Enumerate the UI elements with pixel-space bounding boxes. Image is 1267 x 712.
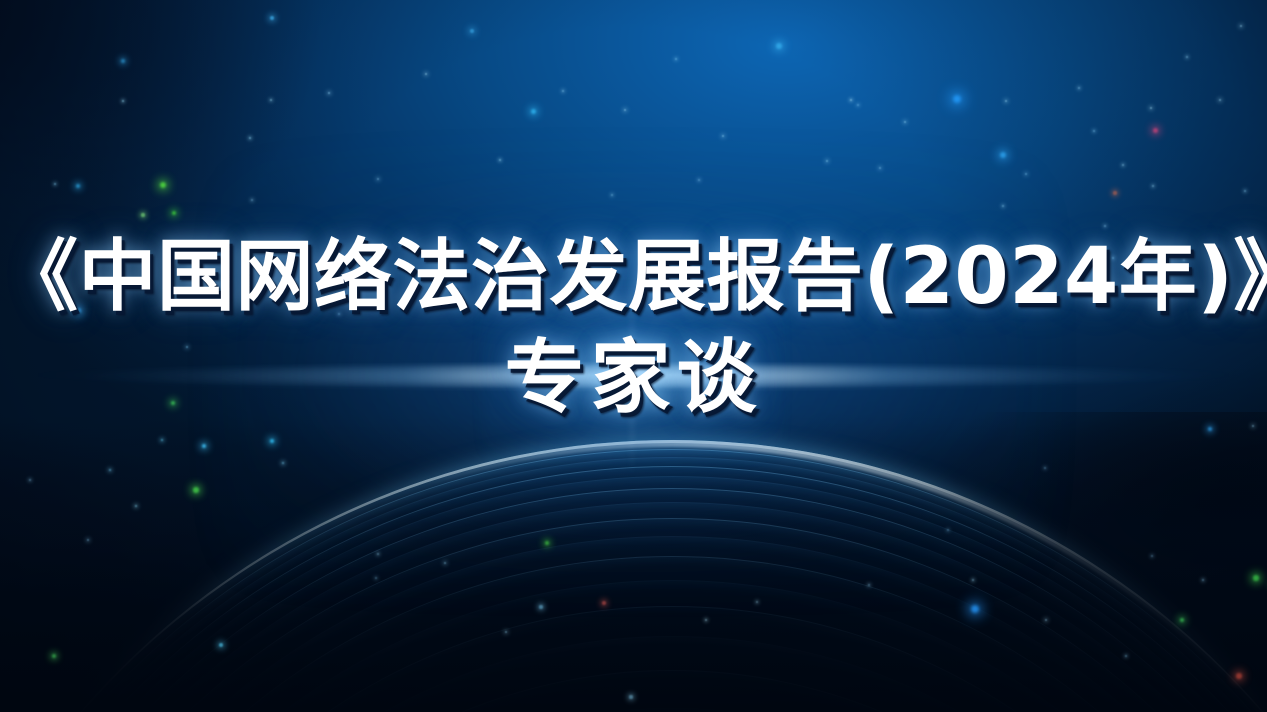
title-block: 《中国网络法治发展报告(2024年)》 专家谈 — [0, 238, 1267, 418]
poster-canvas: 《中国网络法治发展报告(2024年)》 专家谈 — [0, 0, 1267, 712]
poster-title-line-1: 《中国网络法治发展报告(2024年)》 — [0, 238, 1267, 316]
poster-title-line-2: 专家谈 — [0, 338, 1267, 418]
